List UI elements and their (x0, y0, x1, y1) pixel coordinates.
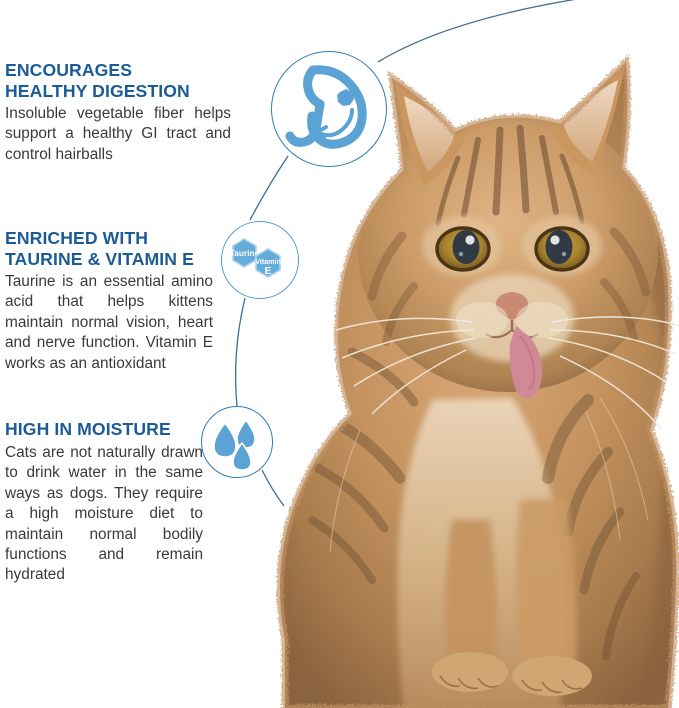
feature-heading-taurine: ENRICHED WITH TAURINE & VITAMIN E (5, 228, 213, 270)
taurine-vitamin-e-hexagons-icon: Taurine Vitamin E (221, 221, 299, 299)
feature-body-digestion: Insoluble vegetable fiber helps support … (5, 104, 231, 165)
connector-arc-top (378, 0, 679, 62)
feature-body-moisture: Cats are not naturally drawn to drink wa… (5, 443, 203, 586)
droplet-large (214, 423, 236, 457)
water-droplets-icon (201, 406, 273, 478)
feature-heading-digestion: ENCOURAGES HEALTHY DIGESTION (5, 60, 231, 102)
feature-block-digestion: ENCOURAGES HEALTHY DIGESTION Insoluble v… (5, 60, 231, 165)
infographic-canvas: ENCOURAGES HEALTHY DIGESTION Insoluble v… (0, 0, 679, 708)
connector-stomach-taurine (250, 156, 288, 220)
feature-body-taurine: Taurine is an essential amino acid that … (5, 272, 213, 374)
hexagon-e-label: E (265, 266, 272, 277)
stomach-icon (271, 51, 387, 167)
connector-taurine-moisture (236, 298, 245, 406)
feature-heading-moisture: HIGH IN MOISTURE (5, 419, 203, 440)
feature-block-taurine: ENRICHED WITH TAURINE & VITAMIN E Taurin… (5, 228, 213, 374)
connector-moisture-cat (262, 470, 284, 506)
droplet-medium (237, 420, 255, 448)
feature-block-moisture: HIGH IN MOISTURE Cats are not naturally … (5, 419, 203, 586)
hexagon-vitamin-label: Vitamin (255, 257, 281, 266)
